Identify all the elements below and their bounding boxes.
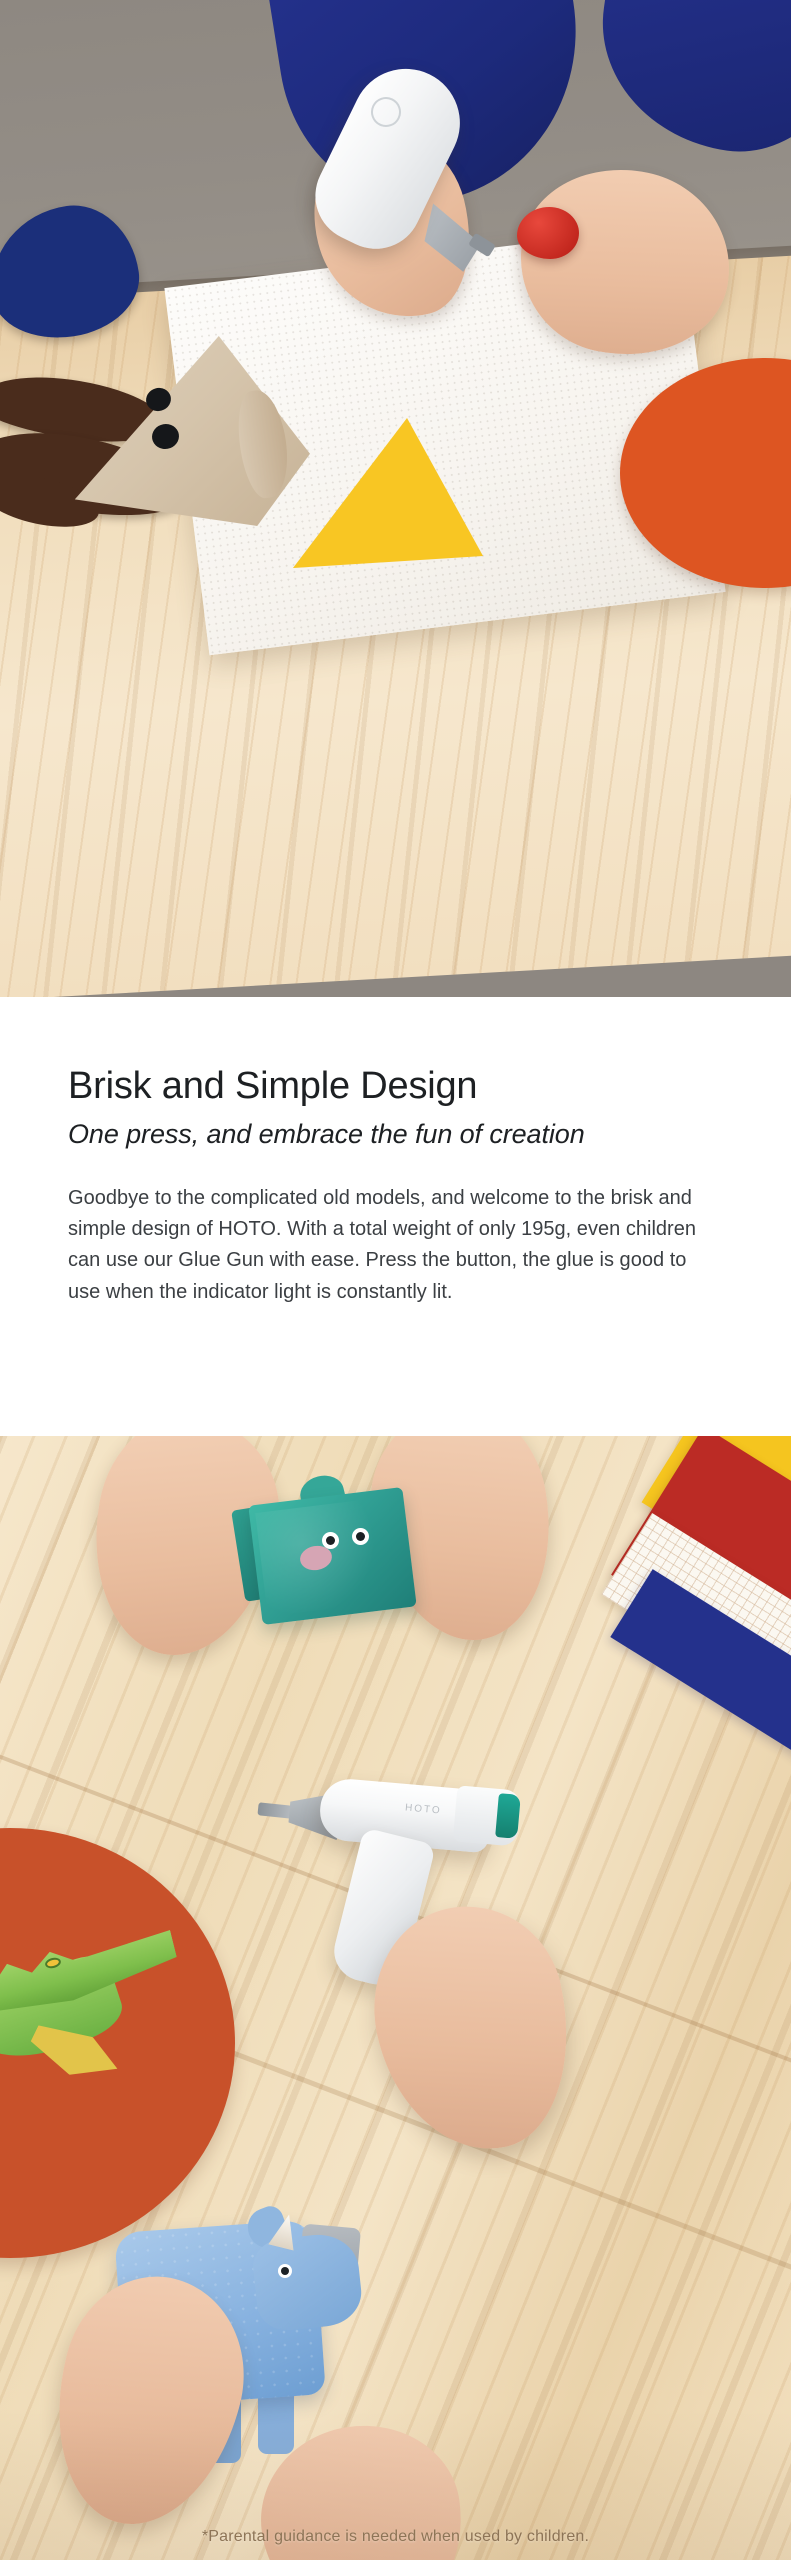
section-heading: Brisk and Simple Design bbox=[68, 1065, 723, 1109]
teal-box-eye-right bbox=[352, 1528, 369, 1545]
rhino-head bbox=[250, 2231, 364, 2333]
section-subheading: One press, and embrace the fun of creati… bbox=[68, 1118, 723, 1150]
hero-product-photo bbox=[0, 0, 791, 997]
product-detail-page: Brisk and Simple Design One press, and e… bbox=[0, 0, 791, 2560]
red-felt-ball bbox=[517, 207, 579, 259]
glue-gun-2-green-accent bbox=[495, 1793, 521, 1839]
copy-block: Brisk and Simple Design One press, and e… bbox=[0, 997, 791, 1436]
teal-paper-animal-box bbox=[248, 1487, 416, 1625]
section-body-text: Goodbye to the complicated old models, a… bbox=[68, 1183, 718, 1308]
rhino-eye bbox=[278, 2264, 292, 2278]
lifestyle-photo: HOTO *Parental guidance is needed when u… bbox=[0, 1436, 791, 2560]
parental-guidance-footnote: *Parental guidance is needed when used b… bbox=[0, 2528, 791, 2546]
